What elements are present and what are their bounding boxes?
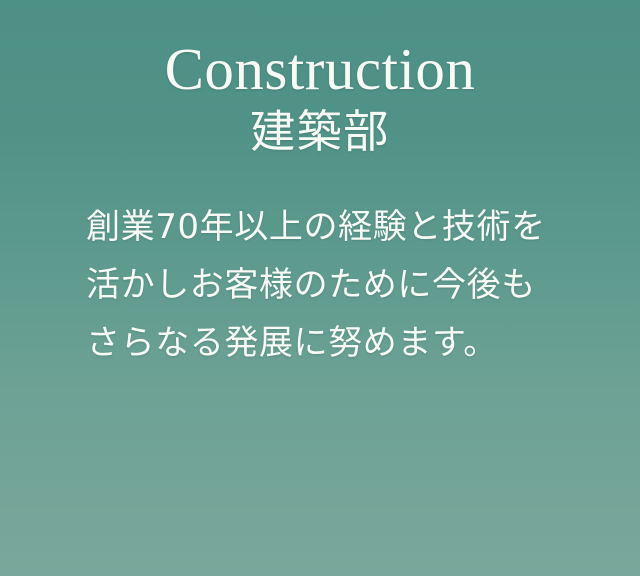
construction-hero-panel: Construction 建築部 創業70年以上の経験と技術を 活かしお客様のた… (0, 0, 640, 576)
hero-heading-group: Construction 建築部 (0, 38, 640, 158)
hero-description: 創業70年以上の経験と技術を 活かしお客様のために今後も さらなる発展に努めます… (86, 198, 566, 372)
description-line-1: 創業70年以上の経験と技術を (86, 198, 566, 256)
description-line-3: さらなる発展に努めます。 (86, 314, 566, 372)
description-line-2: 活かしお客様のために今後も (86, 256, 566, 314)
page-title-english: Construction (0, 38, 640, 100)
page-title-japanese: 建築部 (0, 106, 640, 158)
